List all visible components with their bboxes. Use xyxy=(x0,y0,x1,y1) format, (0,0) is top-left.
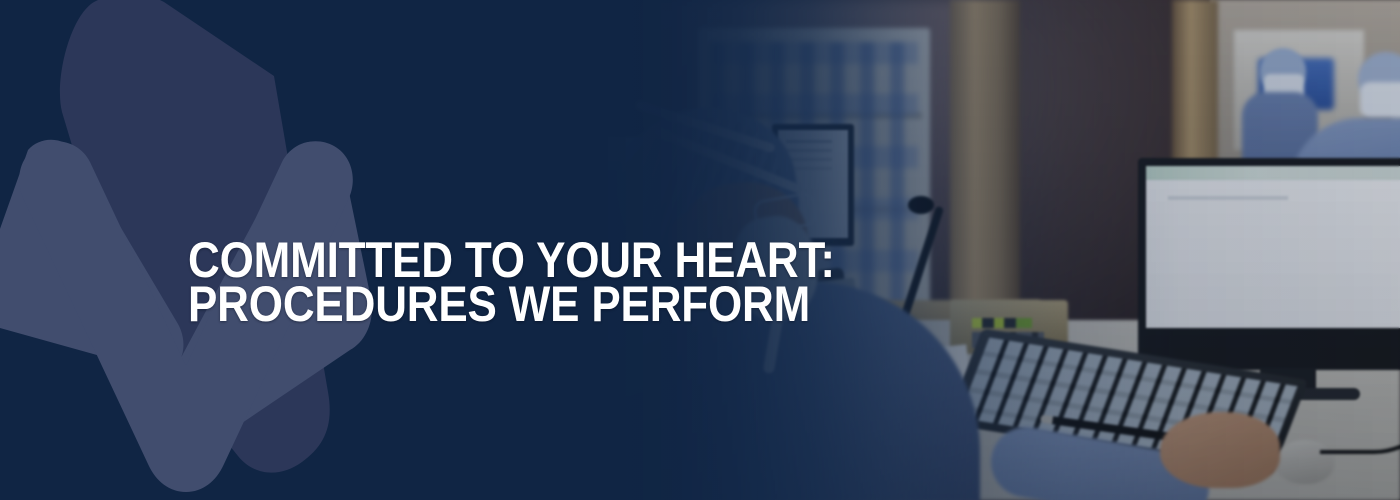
headline-line-2: PROCEDURES WE PERFORM xyxy=(188,282,751,326)
hero-banner: COMMITTED TO YOUR HEART: PROCEDURES WE P… xyxy=(0,0,1400,500)
page-title: COMMITTED TO YOUR HEART: PROCEDURES WE P… xyxy=(188,238,751,326)
watermark-peak-left xyxy=(0,140,183,379)
